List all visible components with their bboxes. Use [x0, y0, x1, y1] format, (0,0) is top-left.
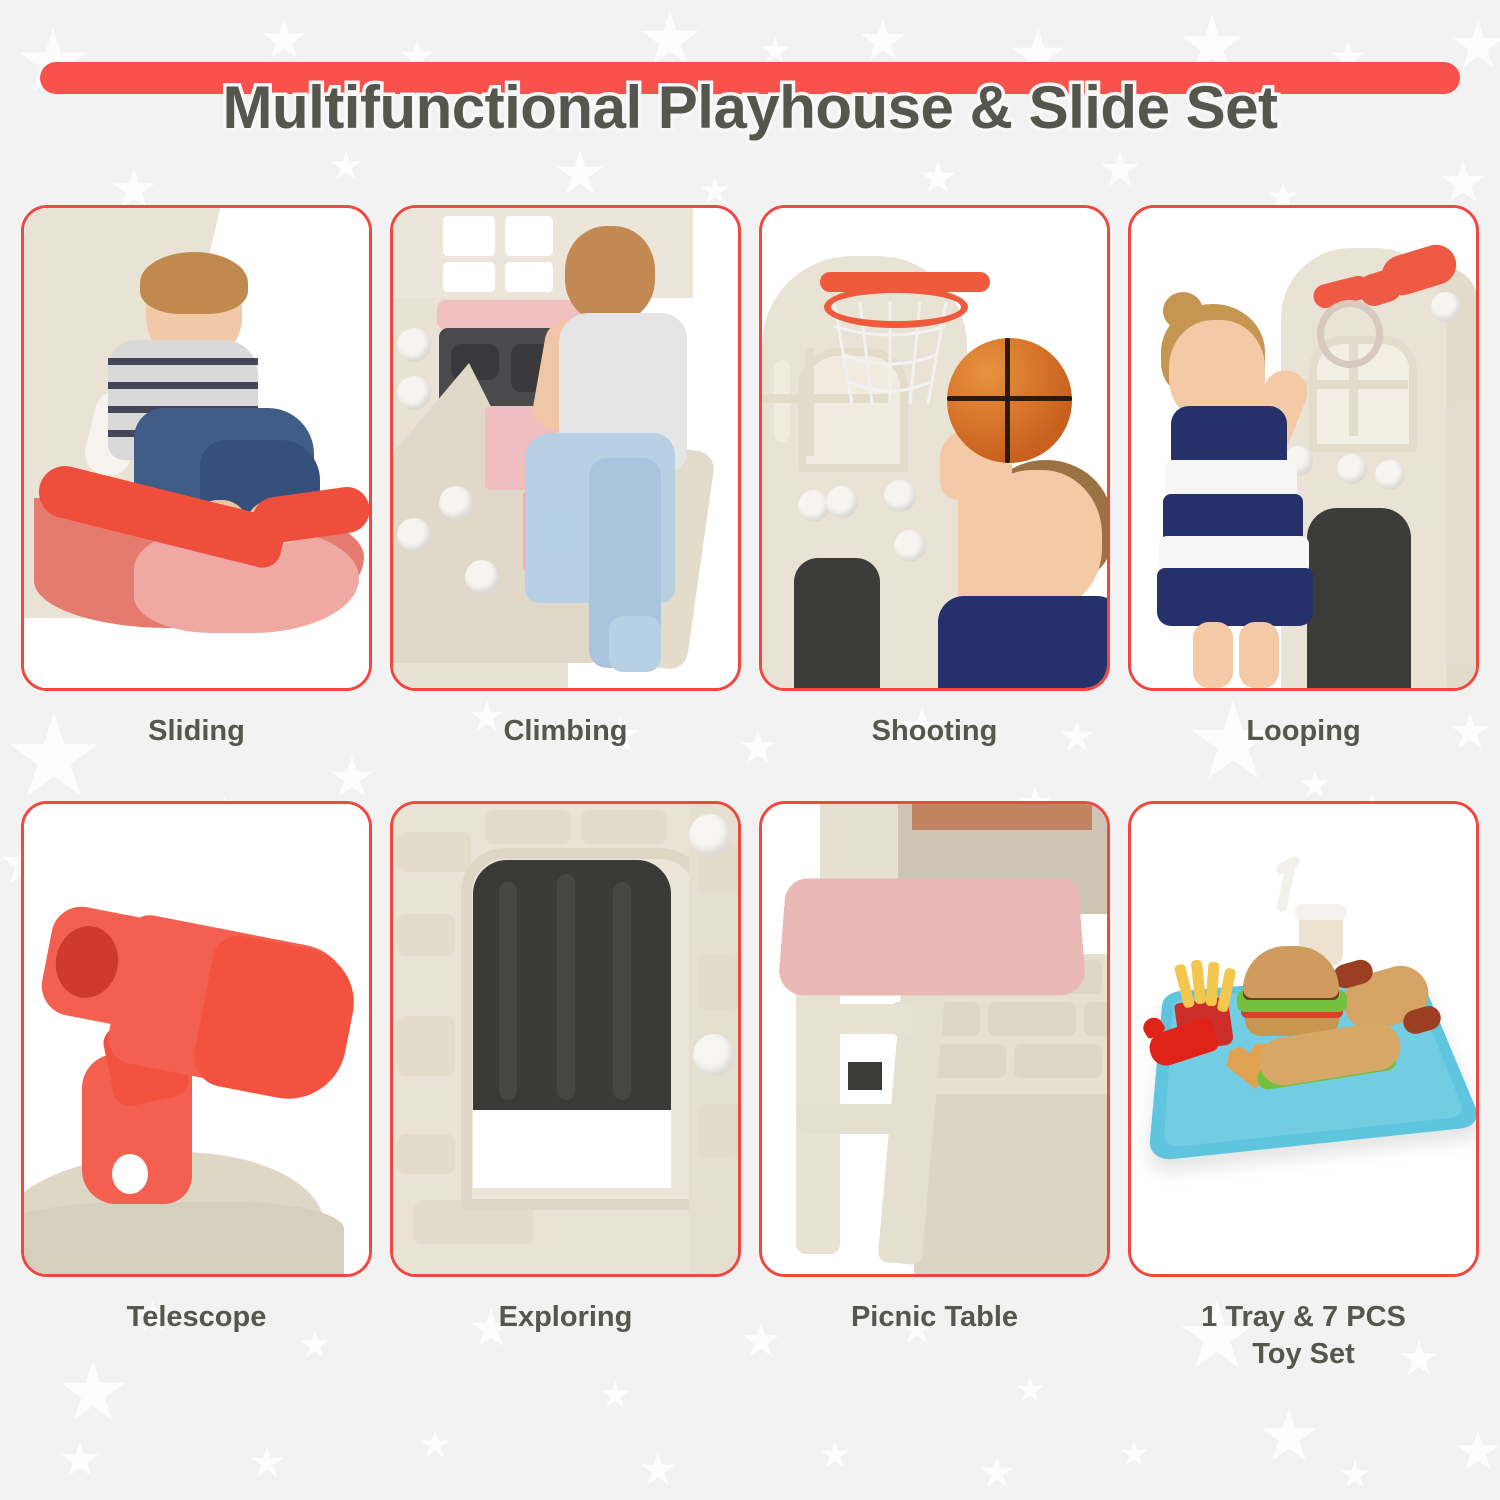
feature-image-exploring[interactable] — [390, 801, 741, 1277]
feature-label-picnic-table: Picnic Table — [762, 1299, 1107, 1335]
feature-image-shooting[interactable] — [759, 205, 1110, 691]
feature-cell-shooting: Shooting — [762, 205, 1107, 749]
feature-cell-sliding: Sliding — [24, 205, 369, 749]
page-header: Multifunctional Playhouse & Slide Set — [0, 52, 1500, 162]
feature-cell-toy-set: 1 Tray & 7 PCSToy Set — [1131, 801, 1476, 1372]
feature-cell-picnic-table: Picnic Table — [762, 801, 1107, 1372]
feature-image-climbing[interactable] — [390, 205, 741, 691]
feature-label-shooting: Shooting — [762, 713, 1107, 749]
feature-cell-climbing: Climbing — [393, 205, 738, 749]
feature-label-toy-set: 1 Tray & 7 PCSToy Set — [1131, 1299, 1476, 1372]
feature-label-exploring: Exploring — [393, 1299, 738, 1335]
feature-label-telescope: Telescope — [24, 1299, 369, 1335]
feature-cell-exploring: Exploring — [393, 801, 738, 1372]
feature-image-sliding[interactable] — [21, 205, 372, 691]
feature-cell-telescope: Telescope — [24, 801, 369, 1372]
page-title: Multifunctional Playhouse & Slide Set — [223, 73, 1278, 142]
feature-label-climbing: Climbing — [393, 713, 738, 749]
feature-label-sliding: Sliding — [24, 713, 369, 749]
feature-image-telescope[interactable] — [21, 801, 372, 1277]
feature-grid: Sliding — [0, 205, 1500, 1372]
feature-image-toy-set[interactable] — [1128, 801, 1479, 1277]
feature-image-looping[interactable] — [1128, 205, 1479, 691]
feature-image-picnic-table[interactable] — [759, 801, 1110, 1277]
feature-label-looping: Looping — [1131, 713, 1476, 749]
feature-cell-looping: Looping — [1131, 205, 1476, 749]
